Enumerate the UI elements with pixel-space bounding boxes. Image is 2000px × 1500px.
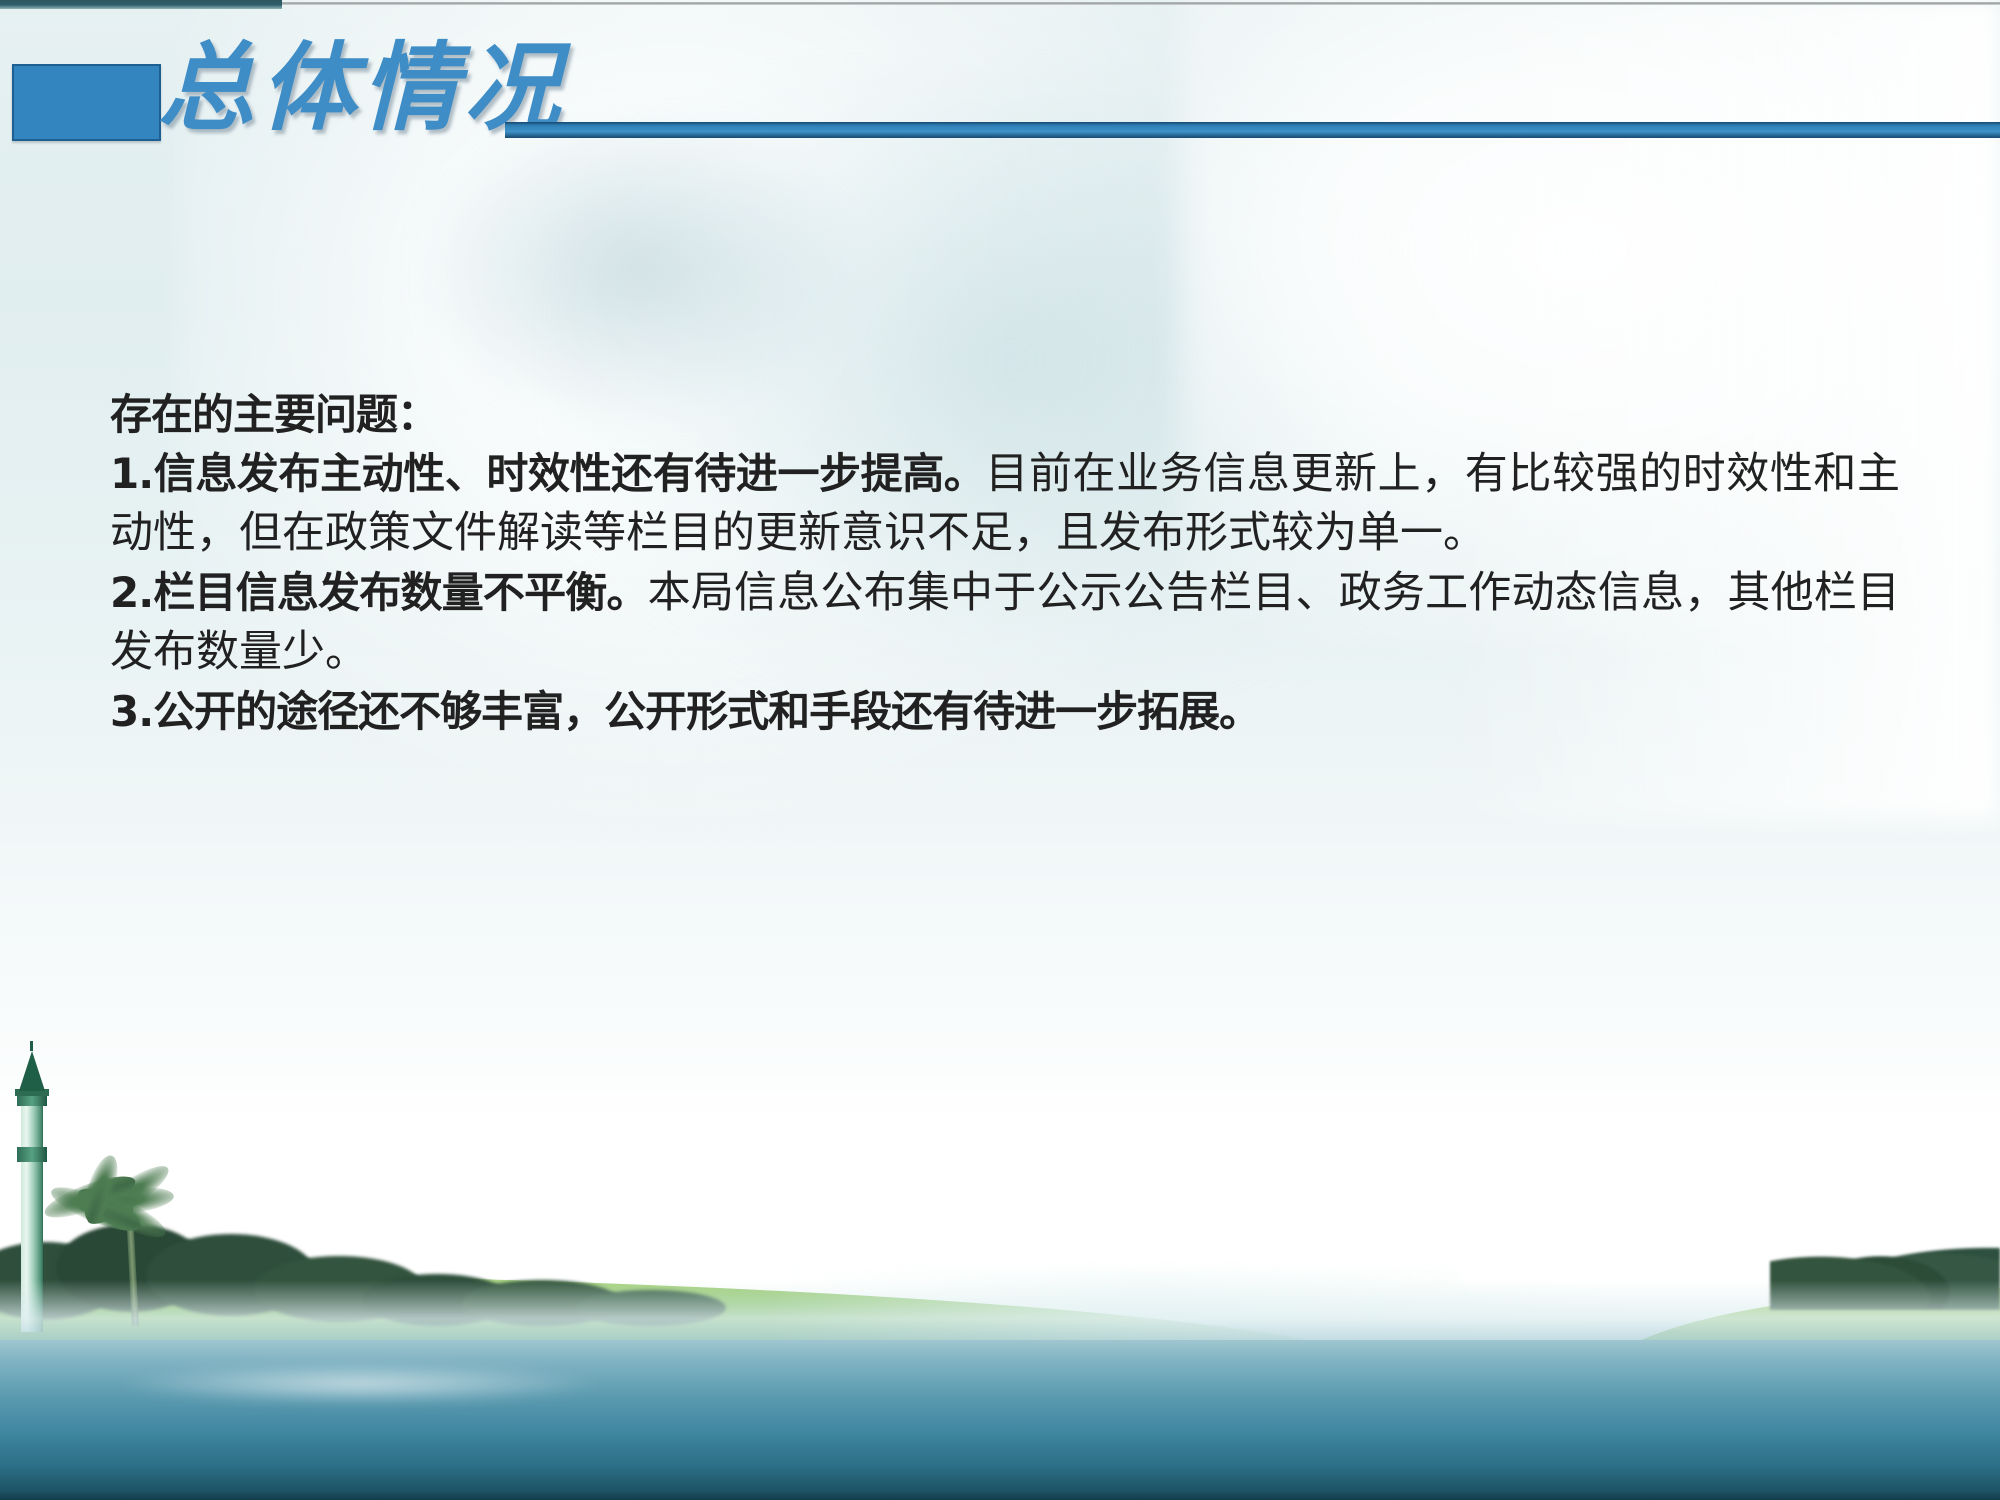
lighthouse-band-lower	[17, 1147, 47, 1162]
problem-item-1: 1.信息发布主动性、时效性还有待进一步提高。目前在业务信息更新上，有比较强的时效…	[110, 444, 1900, 563]
slide-body: 存在的主要问题： 1.信息发布主动性、时效性还有待进一步提高。目前在业务信息更新…	[110, 386, 1900, 742]
problem-item-3-title: 3.公开的途径还不够丰富，公开形式和手段还有待进一步拓展。	[110, 687, 1260, 736]
sea-reflection-sheen	[120, 1364, 600, 1404]
lighthouse-roof	[19, 1051, 45, 1091]
top-dark-strip	[0, 0, 282, 9]
problem-item-2-title: 2.栏目信息发布数量不平衡。	[110, 568, 648, 617]
top-hairline-rule	[282, 2, 2000, 5]
title-accent-swatch	[12, 64, 161, 141]
problem-item-3: 3.公开的途径还不够丰富，公开形式和手段还有待进一步拓展。	[110, 682, 1900, 742]
problem-item-2: 2.栏目信息发布数量不平衡。本局信息公布集中于公示公告栏目、政务工作动态信息，其…	[110, 563, 1900, 682]
problem-item-1-title: 1.信息发布主动性、时效性还有待进一步提高。	[110, 449, 985, 498]
scenery-illustration	[0, 1040, 2000, 1500]
slide-title-block: 总体情况	[0, 52, 2000, 162]
title-underline-rule	[505, 122, 2000, 138]
slide-canvas: 总体情况 存在的主要问题： 1.信息发布主动性、时效性还有待进一步提高。目前在业…	[0, 0, 2000, 1500]
lighthouse-finial	[30, 1041, 33, 1051]
body-heading: 存在的主要问题：	[110, 386, 1900, 444]
